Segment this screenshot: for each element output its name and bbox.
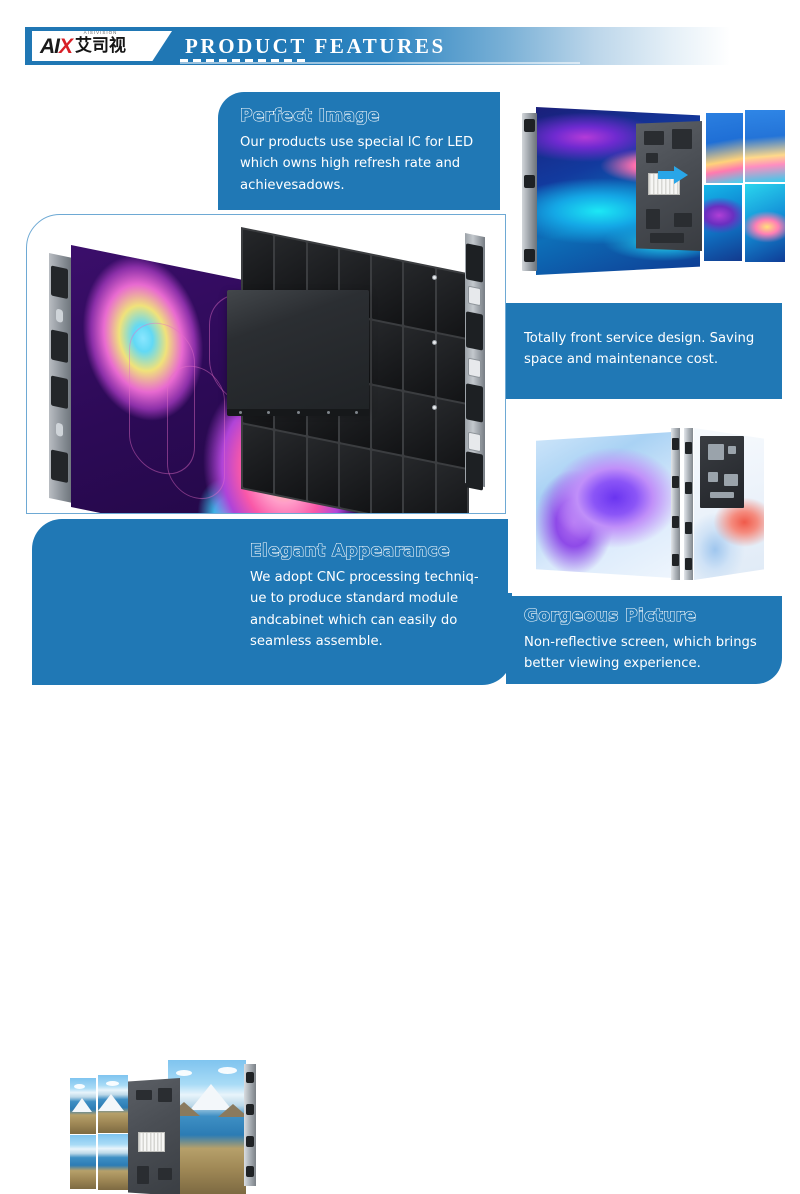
scene-cloud: [106, 1081, 119, 1086]
cabinet-side-rail-left: [49, 253, 71, 503]
module-pin: [267, 411, 270, 414]
feature-body-perfect-image: Our products use special lC for LED whic…: [240, 132, 482, 196]
page-title: PRODUCT FEATURES: [185, 34, 446, 59]
module-chip: [672, 129, 692, 149]
feature-body-front-service: Totally front service design. Saving spa…: [524, 328, 762, 371]
feature-title-elegant-appearance: Elegant Appearance: [250, 541, 502, 561]
image-led-wall-exploded: [26, 214, 506, 514]
feature-body-line: seamless assemble.: [250, 631, 502, 652]
rail-port: [524, 175, 535, 188]
front-service-artwork: [508, 85, 786, 298]
module-chip: [650, 233, 684, 243]
module-chip: [644, 131, 664, 145]
feature-card-elegant-appearance: Elegant Appearance We adopt CNC processi…: [32, 519, 512, 685]
cabinet-post: [684, 428, 693, 580]
scene-artwork: [68, 1054, 258, 1194]
removable-module: [636, 121, 702, 251]
rail-port: [246, 1136, 254, 1147]
post-block: [466, 243, 483, 282]
logo-letter-x: X: [59, 35, 72, 58]
cabinet-frame-post: [465, 233, 485, 487]
post-port: [685, 482, 692, 494]
rail-port: [524, 119, 535, 132]
scene-tile: [98, 1134, 128, 1190]
module-pin: [239, 411, 242, 414]
post-lock: [468, 432, 481, 453]
arrow-right-icon-tail: [658, 171, 674, 179]
rail-port: [246, 1104, 254, 1115]
feature-card-gorgeous-picture: Gorgeous Picture Non-reflective screen, …: [506, 596, 782, 684]
post-lock: [468, 358, 481, 379]
image-led-wall-mountain-scene: [68, 1054, 258, 1194]
post-block: [466, 311, 483, 350]
post-port: [672, 554, 679, 566]
cabinet-screw: [432, 340, 437, 345]
rail-indicator: [56, 308, 63, 322]
rail-indicator: [56, 422, 63, 436]
led-tile: [745, 110, 785, 182]
image-non-reflective-screen: [508, 418, 786, 593]
module-chip: [137, 1166, 149, 1184]
post-port: [672, 516, 679, 528]
post-port: [685, 442, 692, 454]
post-port: [672, 476, 679, 488]
logo-letter-a: A: [40, 35, 54, 58]
feature-card-front-service: Totally front service design. Saving spa…: [506, 303, 782, 399]
board-chip: [708, 444, 724, 460]
module-chip: [646, 209, 660, 229]
logo-pinyin: AISIVISION: [75, 31, 126, 36]
module-connector: [138, 1132, 165, 1152]
cabinet-screw: [432, 275, 437, 280]
rail-port: [524, 249, 535, 262]
rail-port: [51, 265, 68, 299]
feature-title-perfect-image: Perfect Image: [240, 106, 482, 126]
image-front-service-module: [508, 85, 786, 298]
post-block: [466, 451, 483, 490]
scene-cloud: [176, 1070, 192, 1076]
feature-body-elegant-appearance: We adopt CNC processing techniq- ue to p…: [250, 567, 502, 653]
scene-cloud: [218, 1067, 237, 1074]
cabinet-side-rail-left: [522, 113, 537, 271]
header-underline: [180, 62, 580, 64]
logo-wordmark: AIX: [40, 36, 72, 57]
brand-logo: AIX AISIVISION 艾司视: [32, 31, 172, 61]
rear-module: [128, 1078, 180, 1194]
control-board: [700, 436, 744, 508]
led-tile: [706, 113, 743, 183]
feature-body-gorgeous-picture: Non-reflective screen, which brings bett…: [524, 632, 764, 675]
module-chip: [674, 213, 692, 227]
header-dashed-rule: [180, 59, 310, 62]
post-port: [685, 558, 692, 570]
feature-body-line: We adopt CNC processing techniq-: [250, 567, 502, 588]
module-chip: [136, 1090, 152, 1100]
post-port: [672, 438, 679, 450]
led-screen-front: [536, 432, 672, 578]
board-chip: [728, 446, 736, 454]
detached-led-module: [227, 290, 369, 410]
module-chip: [646, 153, 658, 163]
rail-port: [51, 375, 68, 409]
module-chip: [158, 1168, 172, 1180]
post-lock: [468, 286, 481, 307]
rail-port: [246, 1072, 254, 1083]
feature-body-line: andcabinet which can easily do: [250, 610, 502, 631]
cabinet-post: [671, 428, 680, 580]
led-wall-artwork: [27, 215, 505, 513]
module-pin: [327, 411, 330, 414]
module-chip: [158, 1088, 172, 1102]
led-tile: [745, 184, 785, 262]
rail-port: [51, 449, 68, 483]
logo-chinese-name: AISIVISION 艾司视: [75, 38, 126, 55]
board-chip: [724, 474, 738, 486]
scene-mountain-peak: [72, 1098, 92, 1112]
scene-cloud: [74, 1084, 85, 1089]
rail-port: [51, 329, 68, 363]
post-port: [685, 522, 692, 534]
scene-mountain-peak: [98, 1094, 124, 1111]
board-chip: [708, 472, 718, 482]
scene-tile: [70, 1135, 96, 1189]
module-pin: [297, 411, 300, 414]
non-reflective-artwork: [508, 418, 786, 593]
led-tile: [704, 185, 742, 261]
board-chip: [710, 492, 734, 498]
arrow-right-icon: [674, 166, 688, 184]
feature-card-perfect-image: Perfect Image Our products use special l…: [218, 92, 500, 210]
header-banner: AIX AISIVISION 艾司视 PRODUCT FEATURES: [25, 27, 775, 65]
cabinet-screw: [432, 405, 437, 410]
feature-title-gorgeous-picture: Gorgeous Picture: [524, 606, 764, 626]
cabinet-side-rail: [244, 1064, 256, 1186]
feature-body-line: ue to produce standard module: [250, 588, 502, 609]
feature-text-elegant-appearance: Elegant Appearance We adopt CNC processi…: [250, 541, 502, 653]
post-block: [466, 383, 483, 422]
rail-port: [246, 1166, 254, 1177]
module-pin: [355, 411, 358, 414]
logo-chinese-chars: 艾司视: [75, 36, 126, 56]
